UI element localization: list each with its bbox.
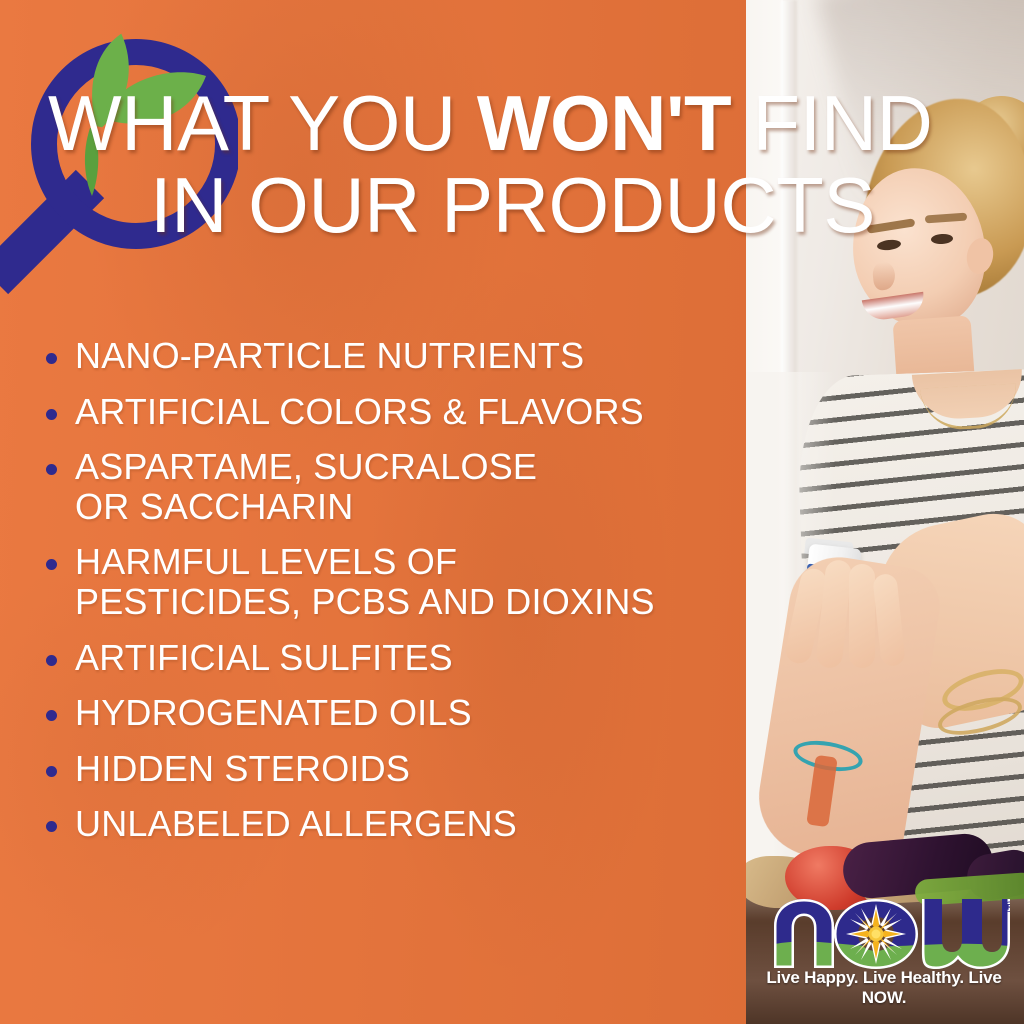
list-item-label: HYDROGENATED OILS <box>75 693 472 733</box>
bullet-icon <box>46 655 57 666</box>
now-logo-mark: ® <box>758 896 1010 974</box>
headline-prefix: WHAT YOU <box>48 79 477 167</box>
exclusion-list: NANO-PARTICLE NUTRIENTS ARTIFICIAL COLOR… <box>46 336 746 860</box>
promo-poster: WHAT YOU WON'T FIND IN OUR PRODUCTS NANO… <box>0 0 1024 1024</box>
list-item: HIDDEN STEROIDS <box>46 749 746 789</box>
photo-fingers <box>787 560 927 710</box>
headline-emphasis: WON'T <box>477 79 731 167</box>
bullet-icon <box>46 464 57 475</box>
list-item: ASPARTAME, SUCRALOSE OR SACCHARIN <box>46 447 746 526</box>
bullet-icon <box>46 821 57 832</box>
now-brand-logo[interactable]: ® Live Happy. Live Healthy. Live NOW. <box>758 896 1010 1000</box>
registered-mark: ® <box>1004 899 1010 916</box>
list-item-label: ASPARTAME, SUCRALOSE OR SACCHARIN <box>75 447 537 526</box>
list-item-label: ARTIFICIAL COLORS & FLAVORS <box>75 392 644 432</box>
bullet-icon <box>46 409 57 420</box>
list-item: HYDROGENATED OILS <box>46 693 746 733</box>
list-item: NANO-PARTICLE NUTRIENTS <box>46 336 746 376</box>
list-item: HARMFUL LEVELS OF PESTICIDES, PCBS AND D… <box>46 542 746 621</box>
list-item-label: HIDDEN STEROIDS <box>75 749 410 789</box>
list-item-label: HARMFUL LEVELS OF PESTICIDES, PCBS AND D… <box>75 542 655 621</box>
list-item: UNLABELED ALLERGENS <box>46 804 746 844</box>
headline-line-1: WHAT YOU WON'T FIND <box>0 88 1010 160</box>
list-item-label: UNLABELED ALLERGENS <box>75 804 517 844</box>
bullet-icon <box>46 766 57 777</box>
list-item: ARTIFICIAL COLORS & FLAVORS <box>46 392 746 432</box>
brand-tagline: Live Happy. Live Healthy. Live NOW. <box>758 968 1010 1008</box>
headline-suffix: FIND <box>731 79 932 167</box>
list-item: ARTIFICIAL SULFITES <box>46 638 746 678</box>
list-item-label: NANO-PARTICLE NUTRIENTS <box>75 336 584 376</box>
list-item-label: ARTIFICIAL SULFITES <box>75 638 453 678</box>
page-title: WHAT YOU WON'T FIND IN OUR PRODUCTS <box>0 88 1010 242</box>
bullet-icon <box>46 353 57 364</box>
headline-line-2: IN OUR PRODUCTS <box>0 170 1010 242</box>
sunburst-icon <box>846 904 906 964</box>
bullet-icon <box>46 710 57 721</box>
bullet-icon <box>46 559 57 570</box>
